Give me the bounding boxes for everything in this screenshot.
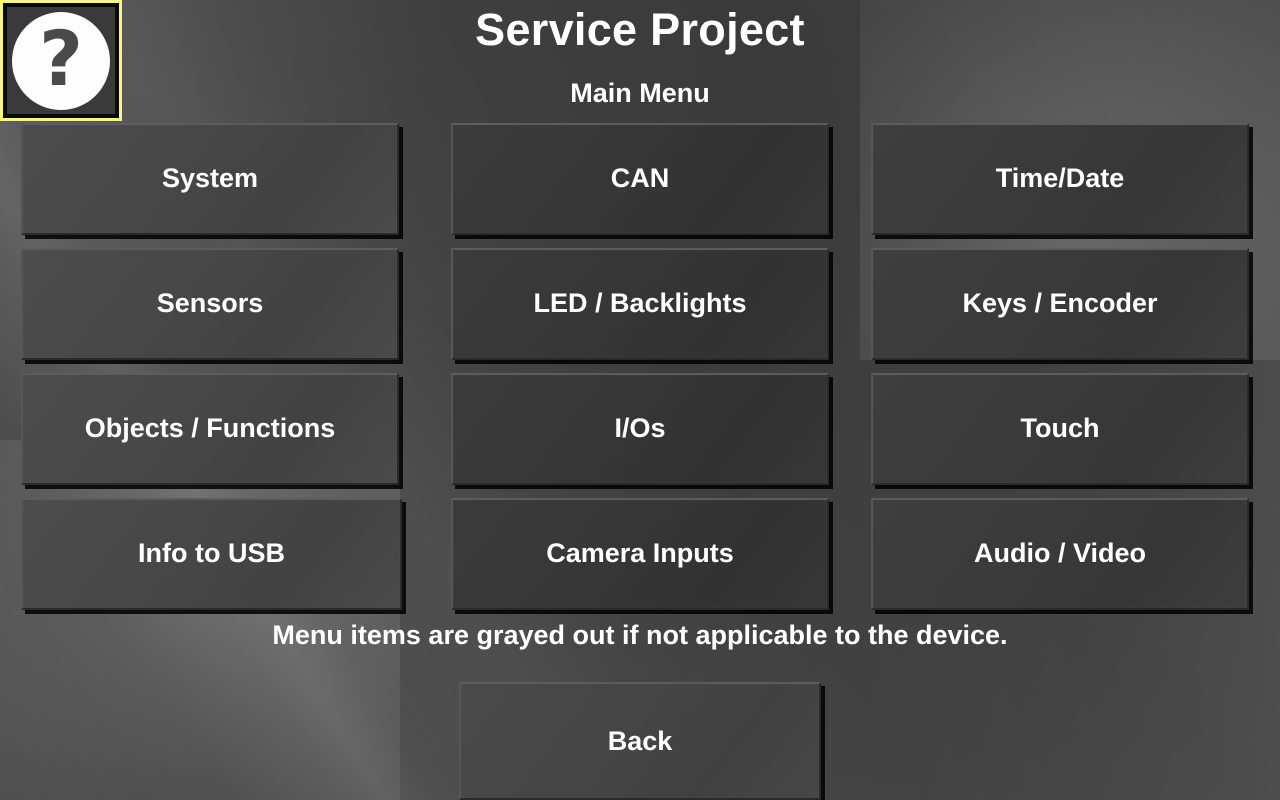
menu-button-label: LED / Backlights: [533, 289, 746, 319]
help-button[interactable]: ?: [0, 0, 122, 121]
menu-button-label: Keys / Encoder: [962, 289, 1157, 319]
menu-button-label: Objects / Functions: [85, 414, 336, 444]
menu-button-ios[interactable]: I/Os: [451, 373, 829, 485]
menu-button-label: Info to USB: [138, 539, 285, 569]
footer-note: Menu items are grayed out if not applica…: [0, 620, 1280, 651]
page-subtitle: Main Menu: [0, 78, 1280, 109]
menu-button-label: Camera Inputs: [546, 539, 734, 569]
menu-button-time-date[interactable]: Time/Date: [871, 123, 1249, 235]
service-project-screen: ? Service Project Main Menu System Senso…: [0, 0, 1280, 800]
back-button-label: Back: [608, 727, 673, 757]
page-title: Service Project: [0, 4, 1280, 56]
menu-button-info-to-usb[interactable]: Info to USB: [21, 498, 402, 610]
menu-button-objects-functions[interactable]: Objects / Functions: [21, 373, 399, 485]
menu-button-sensors[interactable]: Sensors: [21, 248, 399, 360]
menu-button-audio-video[interactable]: Audio / Video: [871, 498, 1249, 610]
menu-button-label: Audio / Video: [974, 539, 1146, 569]
menu-button-can[interactable]: CAN: [451, 123, 829, 235]
help-glyph: ?: [39, 21, 83, 97]
menu-button-touch[interactable]: Touch: [871, 373, 1249, 485]
menu-button-label: Sensors: [157, 289, 264, 319]
back-button[interactable]: Back: [459, 682, 821, 800]
menu-button-system[interactable]: System: [21, 123, 399, 235]
menu-button-label: Touch: [1021, 414, 1100, 444]
menu-button-label: System: [162, 164, 258, 194]
menu-button-label: Time/Date: [996, 164, 1125, 194]
menu-button-label: I/Os: [614, 414, 665, 444]
menu-button-led-backlights[interactable]: LED / Backlights: [451, 248, 829, 360]
menu-button-keys-encoder[interactable]: Keys / Encoder: [871, 248, 1249, 360]
question-mark-icon: ?: [12, 12, 110, 110]
menu-button-camera-inputs[interactable]: Camera Inputs: [451, 498, 829, 610]
menu-button-label: CAN: [611, 164, 670, 194]
